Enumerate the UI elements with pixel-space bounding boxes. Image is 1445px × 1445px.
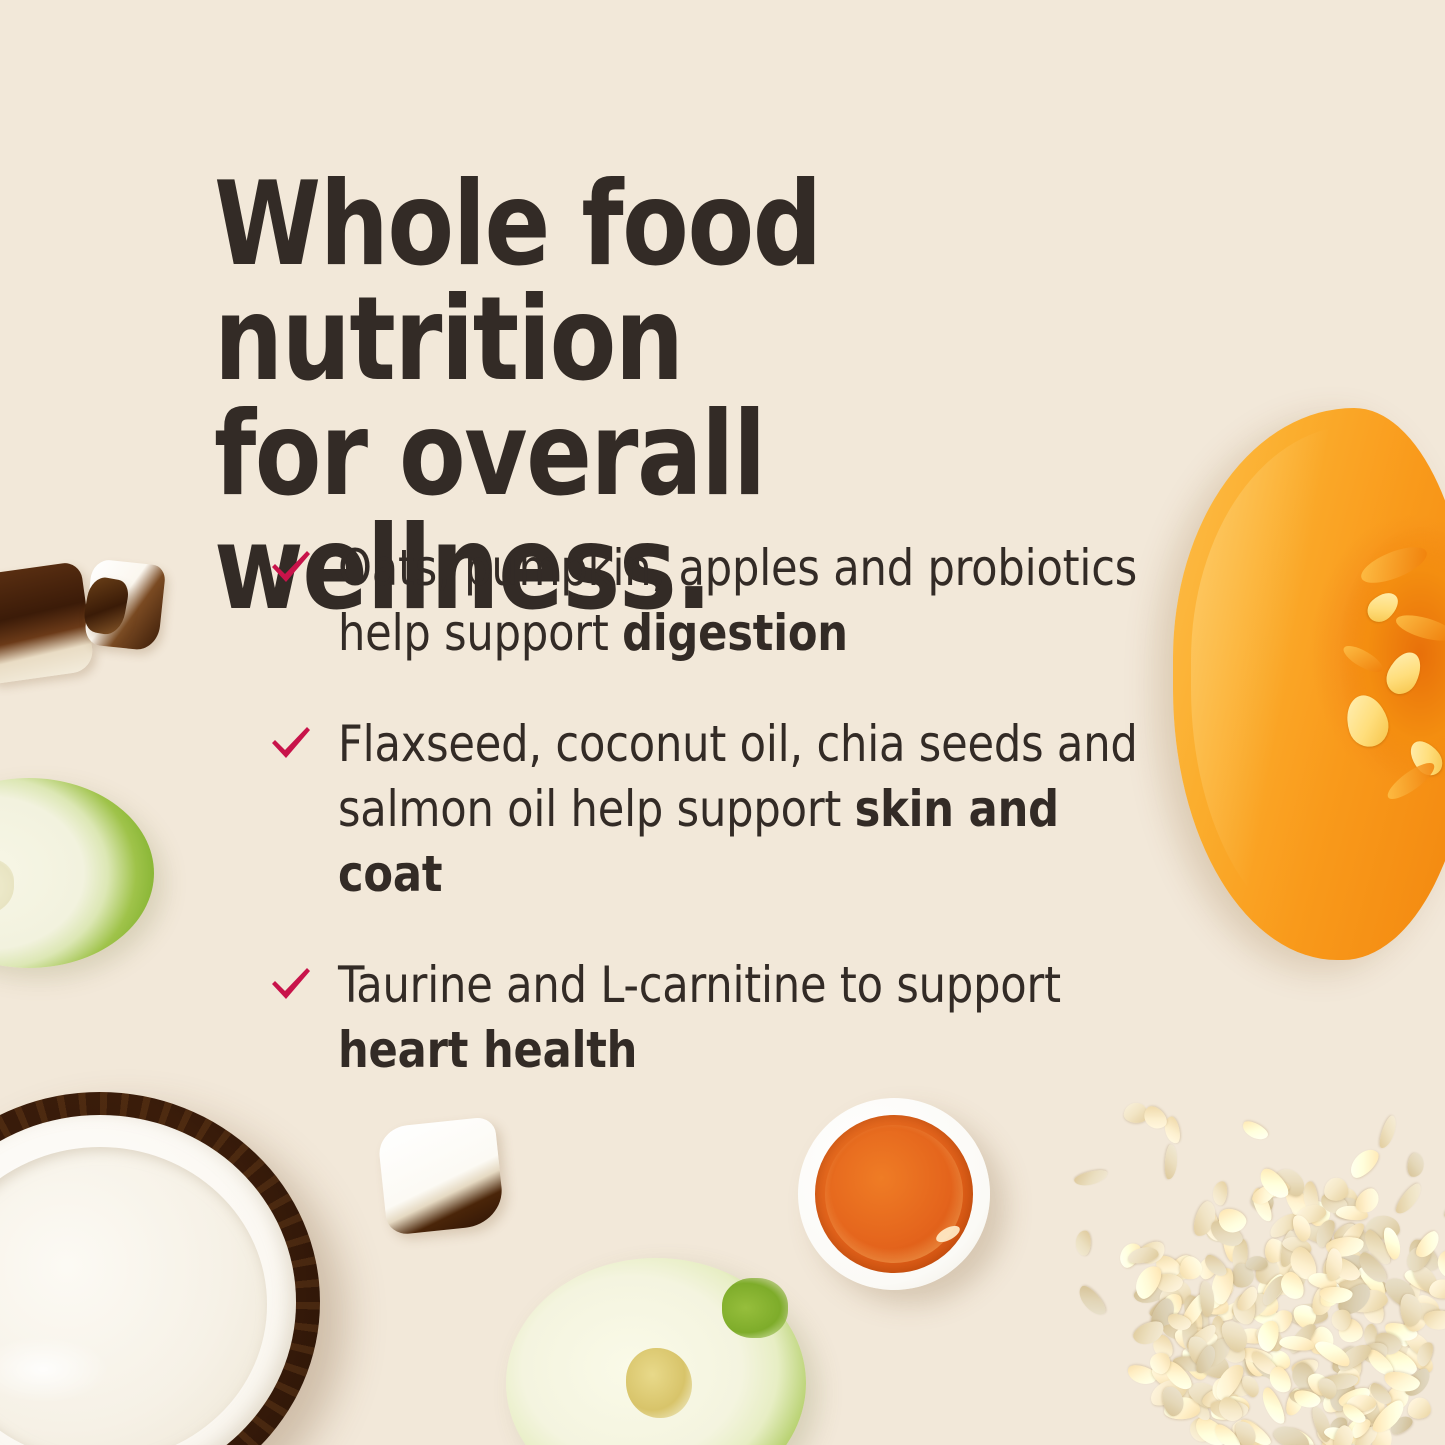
benefit-text-emphasis: heart health <box>338 1021 637 1079</box>
oat-flake <box>1073 1167 1109 1188</box>
promo-canvas: Whole food nutrition for overall wellnes… <box>0 0 1445 1445</box>
apple-stem-notch <box>722 1278 788 1338</box>
coconut-chunk <box>0 561 95 685</box>
coconut-wedge-photo <box>382 1122 500 1230</box>
green-apple-half-photo <box>506 1258 806 1445</box>
list-item: Taurine and L-carnitine to support heart… <box>268 953 1188 1083</box>
benefit-text: Oats, pumpkin, apples and probiotics hel… <box>338 536 1154 666</box>
oat-flake <box>1407 1152 1426 1178</box>
list-item: Flaxseed, coconut oil, chia seeds and sa… <box>268 712 1188 907</box>
apple-seed-pit <box>626 1348 692 1418</box>
apple-slice-body <box>0 778 154 968</box>
oat-flake <box>1075 1230 1091 1256</box>
oat-flake <box>1271 1420 1314 1445</box>
oat-flake <box>1424 1310 1445 1330</box>
oat-flake <box>1441 1194 1445 1225</box>
oat-flake <box>1377 1114 1400 1150</box>
oat-flake <box>1393 1180 1426 1217</box>
salmon-oil-dish-photo <box>798 1098 990 1290</box>
coconut-wedge-body <box>377 1116 506 1236</box>
oat-flake <box>1407 1397 1431 1419</box>
check-icon <box>268 963 314 1009</box>
check-icon <box>268 546 314 592</box>
benefit-text: Flaxseed, coconut oil, chia seeds and sa… <box>338 712 1154 907</box>
benefit-list: Oats, pumpkin, apples and probiotics hel… <box>268 536 1188 1083</box>
coconut-chunk-small <box>86 578 126 634</box>
oat-flake <box>1211 1180 1228 1206</box>
check-icon <box>268 722 314 768</box>
oat-flake <box>1240 1119 1270 1144</box>
benefit-text-plain: Taurine and L-carnitine to support <box>338 956 1061 1014</box>
oat-flake <box>1345 1144 1382 1181</box>
green-apple-slice-photo <box>0 778 154 968</box>
oil-surface <box>815 1115 972 1272</box>
coconut-half-photo <box>0 1092 320 1445</box>
oat-flake <box>1075 1283 1110 1320</box>
coconut-chunks-photo <box>0 568 88 678</box>
benefit-text: Taurine and L-carnitine to support heart… <box>338 953 1154 1083</box>
benefit-text-emphasis: digestion <box>622 604 848 662</box>
list-item: Oats, pumpkin, apples and probiotics hel… <box>268 536 1188 666</box>
oat-flake <box>1324 1178 1348 1201</box>
pumpkin-half-photo <box>1173 408 1445 960</box>
coconut-chunk <box>81 575 130 637</box>
oat-flake <box>1163 1144 1178 1180</box>
rolled-oats-photo <box>1065 1097 1445 1445</box>
